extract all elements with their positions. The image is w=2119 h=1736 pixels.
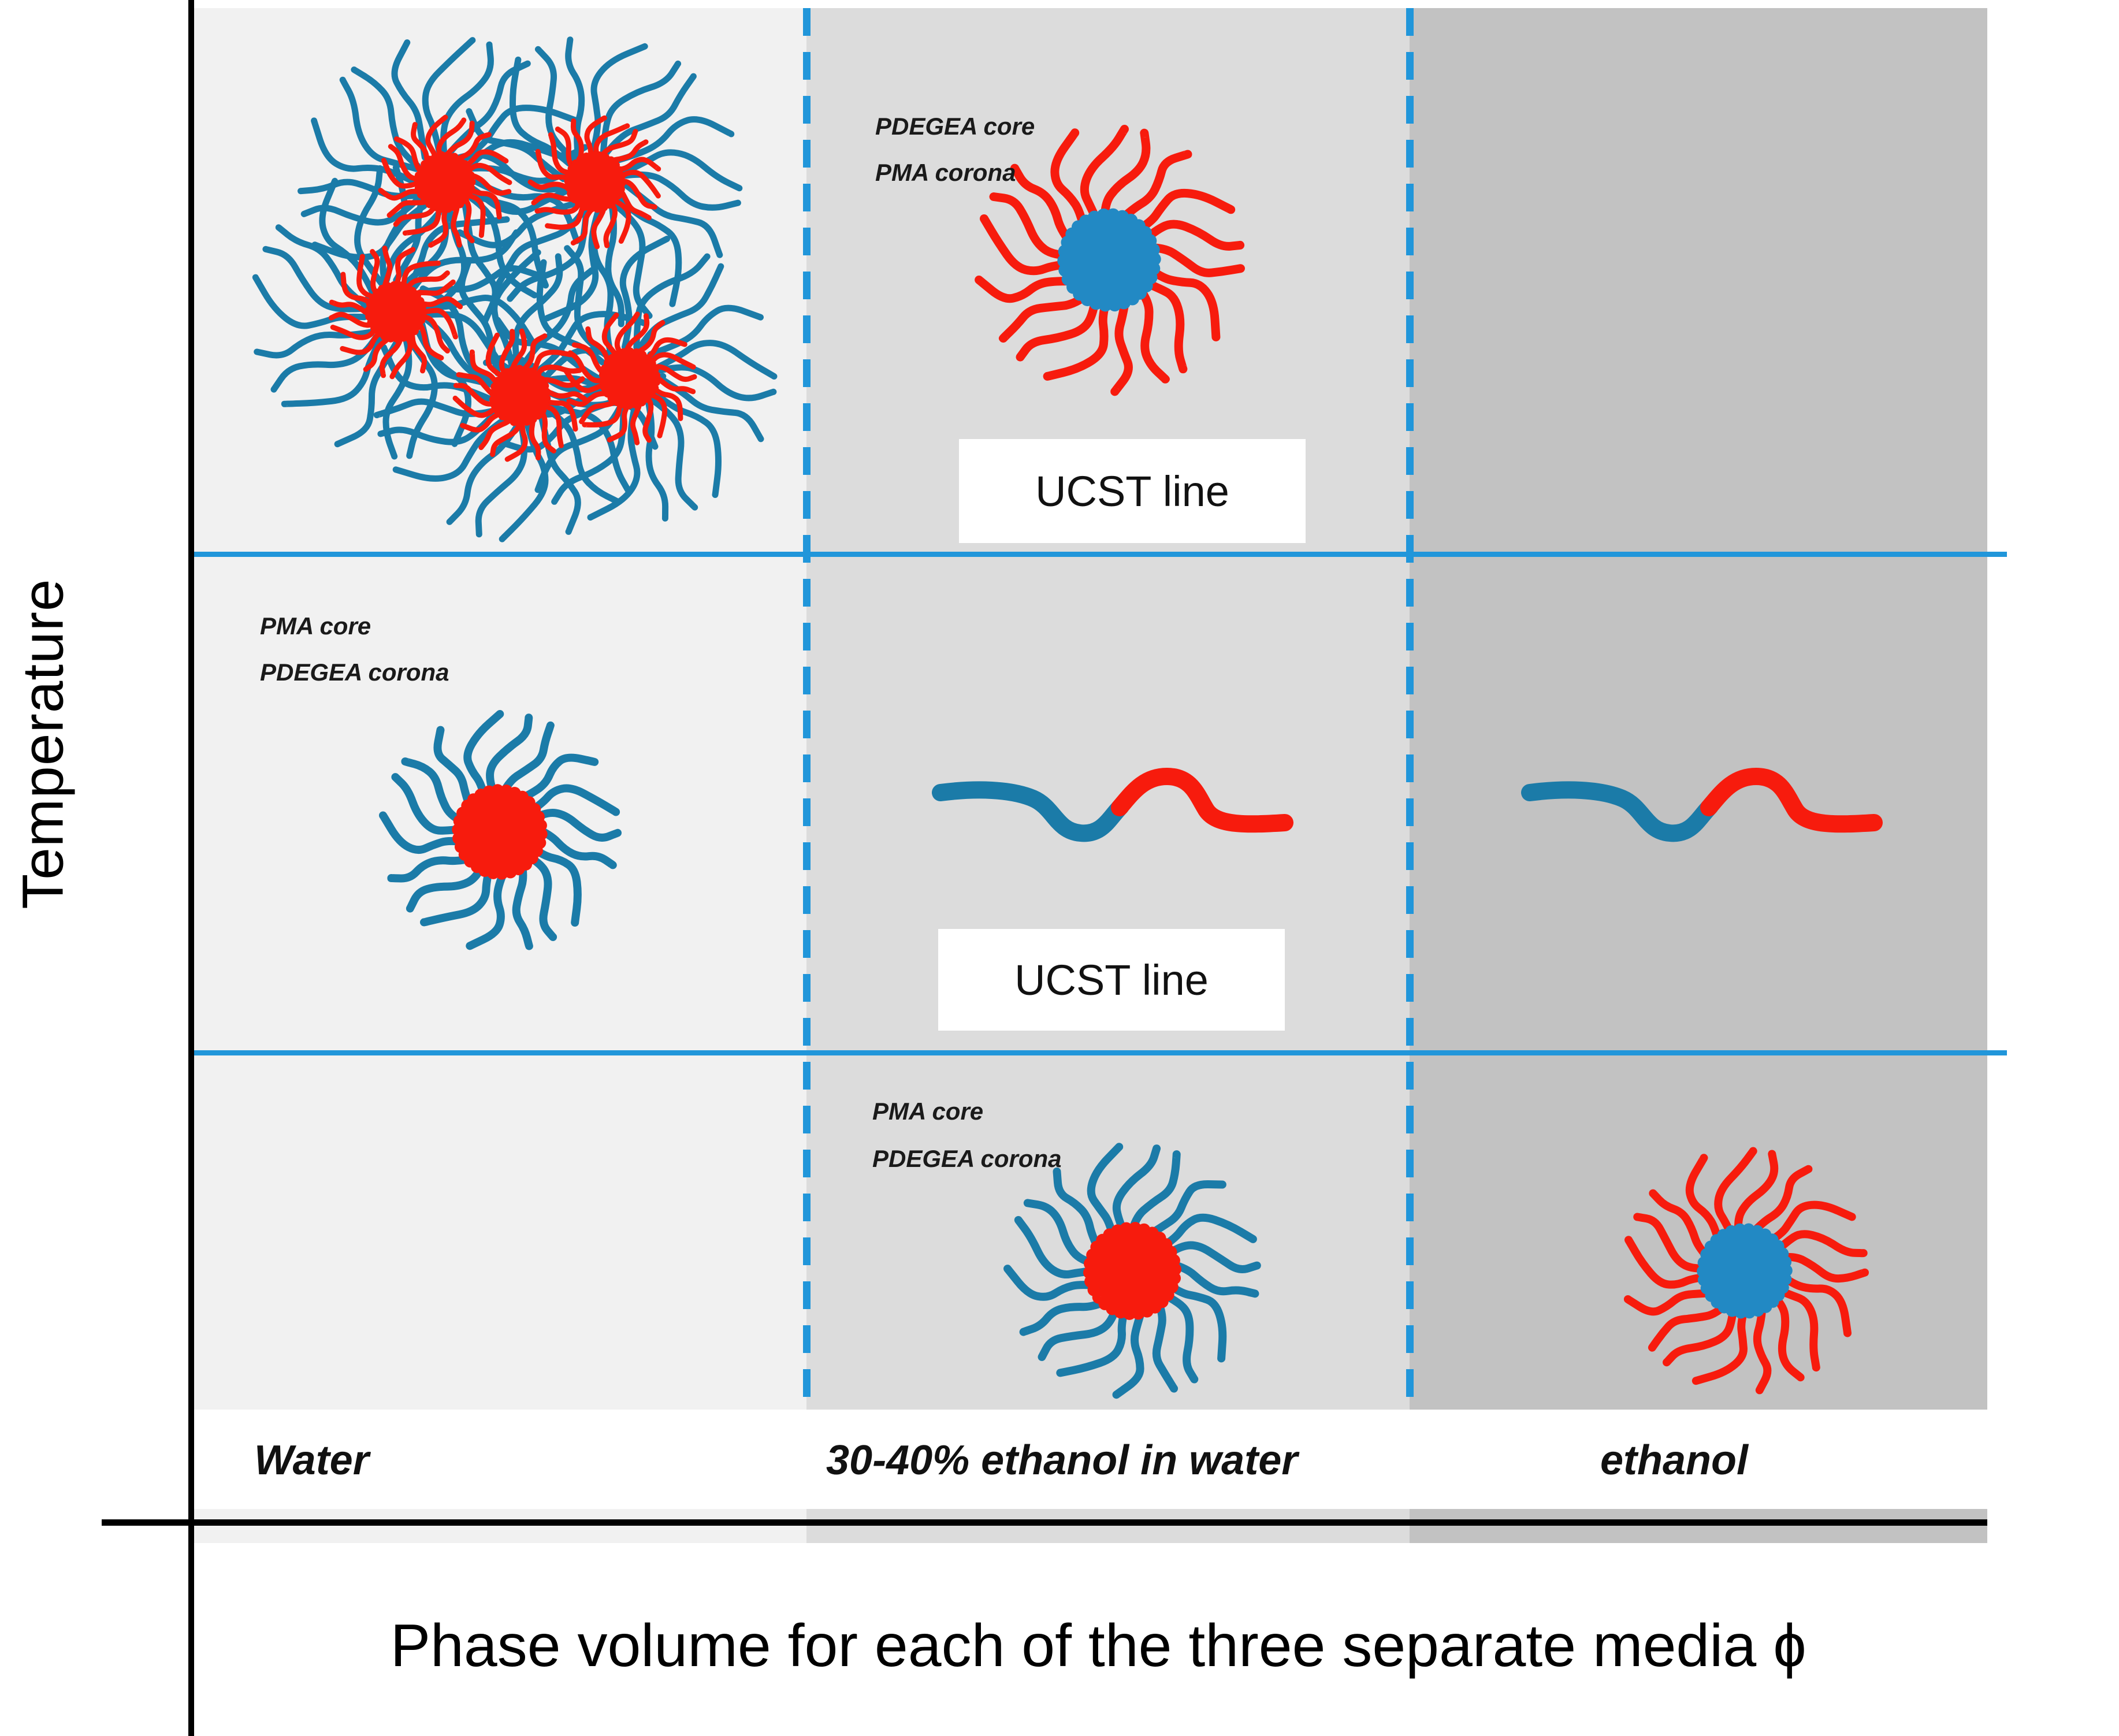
y-axis-line (188, 0, 194, 1736)
unimer-chain-middle (936, 763, 1329, 843)
annotation-mid-left-line1: PMA core (260, 612, 371, 640)
y-axis-title: Temperature (10, 525, 77, 964)
annotation-top-middle-line2: PMA corona (875, 159, 1016, 187)
unimer-chain-right (1525, 763, 1918, 843)
micelle-bottom-right (1612, 1138, 1878, 1404)
annotation-mid-left-line2: PDEGEA corona (260, 659, 449, 686)
solvent-label-ethanol: ethanol (1600, 1432, 1748, 1489)
divider-water-mix (803, 8, 811, 1418)
micelle-top-middle (959, 110, 1259, 410)
ucst-line-lower (194, 1050, 2007, 1055)
annotation-bottom-middle-line1: PMA core (872, 1098, 983, 1125)
ucst-line-upper (194, 552, 2007, 557)
divider-mix-ethanol (1406, 8, 1414, 1418)
annotation-bottom-middle-line2: PDEGEA corona (872, 1145, 1062, 1173)
x-axis-line (102, 1519, 1987, 1526)
micelle-middle-left (370, 702, 630, 962)
annotation-top-middle-line1: PDEGEA core (875, 113, 1035, 140)
aggregate-cluster (272, 49, 757, 523)
solvent-label-water: Water (254, 1432, 369, 1489)
ucst-label-upper: UCST line (959, 439, 1306, 543)
solvent-label-mix: 30-40% ethanol in water (826, 1432, 1298, 1489)
x-axis-title: Phase volume for each of the three separ… (194, 1612, 2002, 1681)
micelle-bottom-middle (994, 1132, 1271, 1410)
ucst-label-lower: UCST line (938, 929, 1285, 1031)
